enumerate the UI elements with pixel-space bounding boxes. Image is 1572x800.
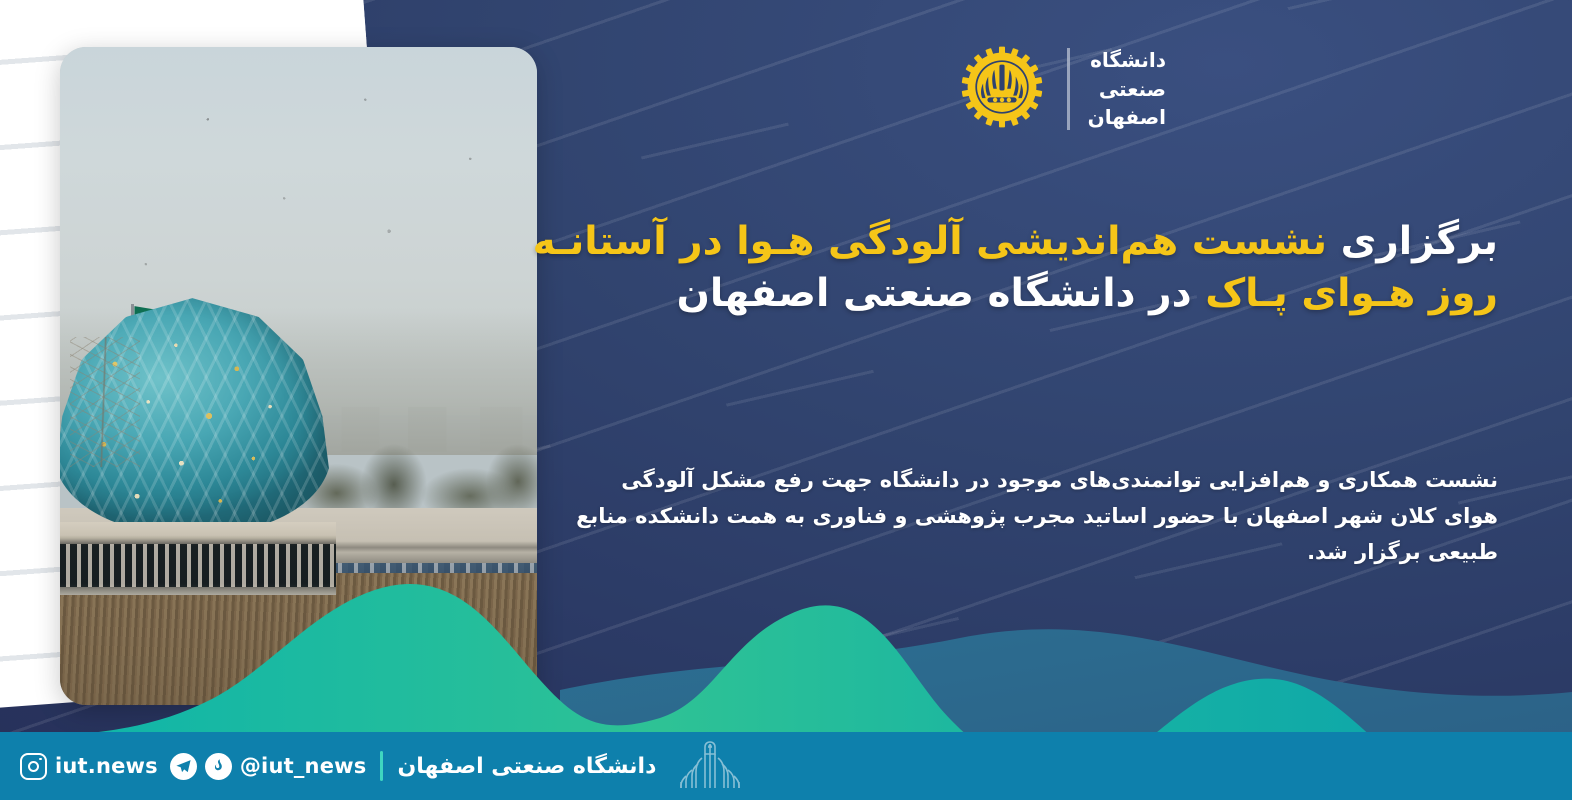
brand-divider bbox=[1067, 48, 1070, 130]
headline-line-2-plain: در دانشگاه صنعتی اصفهان bbox=[677, 271, 1192, 316]
footer-bar: iut.news @iut_news دانشگاه صنعتی اصفهان bbox=[0, 732, 1572, 800]
messenger-accounts[interactable]: @iut_news bbox=[170, 753, 367, 780]
instagram-handle[interactable]: iut.news bbox=[55, 754, 158, 778]
brand-name: دانشگاه صنعتی اصفهان bbox=[1070, 46, 1166, 131]
telegram-icon[interactable] bbox=[170, 753, 197, 780]
iut-gear-emblem-icon bbox=[959, 44, 1045, 134]
footer-divider bbox=[380, 751, 383, 781]
iut-building-watermark-icon bbox=[672, 738, 748, 794]
lede-paragraph: نشست همکاری و هم‌افزایی توانمندی‌های موج… bbox=[563, 462, 1498, 570]
headline-line-1-highlight: نشست هم‌اندیشی آلودگی هـوا در آستانـه bbox=[533, 219, 1327, 264]
page-title: برگزاری نشست هم‌اندیشی آلودگی هـوا در آس… bbox=[553, 216, 1498, 321]
footer-university-name: دانشگاه صنعتی اصفهان bbox=[397, 754, 656, 779]
instagram-account[interactable]: iut.news bbox=[20, 753, 158, 780]
brand-lockup: دانشگاه صنعتی اصفهان bbox=[959, 44, 1166, 134]
brand-name-line-1: دانشگاه bbox=[1088, 46, 1166, 74]
brand-name-line-2: صنعتی bbox=[1088, 75, 1166, 103]
instagram-icon[interactable] bbox=[20, 753, 47, 780]
headline-line-1: برگزاری نشست هم‌اندیشی آلودگی هـوا در آس… bbox=[553, 216, 1498, 268]
headline-line-2: روز هـوای پـاک در دانشگاه صنعتی اصفهان bbox=[553, 268, 1498, 320]
headline-line-2-highlight: روز هـوای پـاک bbox=[1192, 271, 1498, 316]
brand-name-line-3: اصفهان bbox=[1088, 103, 1166, 131]
news-poster: دانشگاه صنعتی اصفهان bbox=[0, 0, 1572, 800]
headline-line-1-plain: برگزاری bbox=[1327, 219, 1498, 264]
bale-messenger-icon[interactable] bbox=[205, 753, 232, 780]
messenger-handle[interactable]: @iut_news bbox=[240, 754, 367, 778]
footer-top-curve bbox=[0, 732, 1572, 742]
